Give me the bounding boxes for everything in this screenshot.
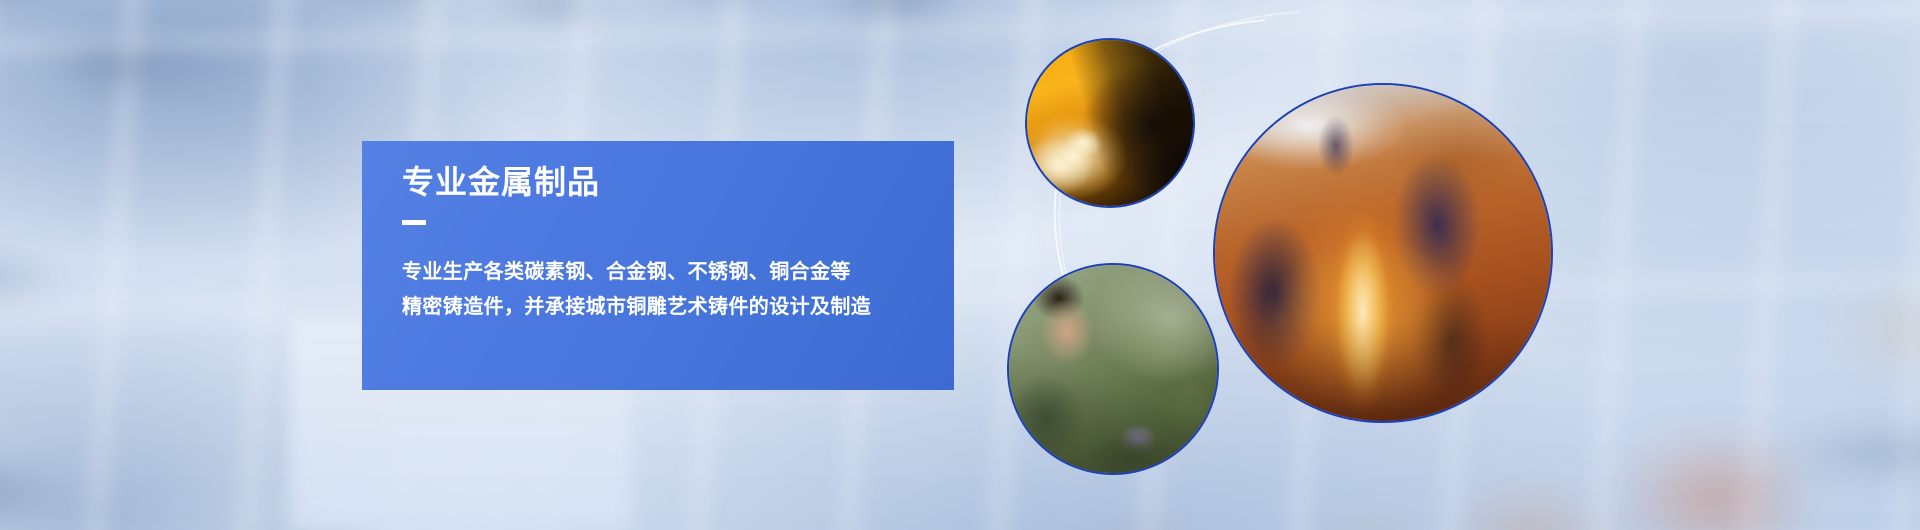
worker-photo-circle — [1007, 263, 1219, 475]
hero-banner: 专业金属制品 专业生产各类碳素钢、合金钢、不锈钢、铜合金等 精密铸造件，并承接城… — [0, 0, 1920, 530]
panel-description-line-2: 精密铸造件，并承接城市铜雕艺术铸件的设计及制造 — [402, 290, 932, 325]
worker-photo — [1009, 265, 1217, 473]
panel-title: 专业金属制品 — [402, 163, 600, 201]
panel-description: 专业生产各类碳素钢、合金钢、不锈钢、铜合金等 精密铸造件，并承接城市铜雕艺术铸件… — [402, 255, 932, 325]
foundry-photo — [1215, 85, 1551, 421]
title-underline-rule — [402, 220, 426, 225]
welding-photo — [1027, 40, 1193, 206]
foundry-photo-circle — [1213, 83, 1553, 423]
welding-photo-circle — [1025, 38, 1195, 208]
panel-description-line-1: 专业生产各类碳素钢、合金钢、不锈钢、铜合金等 — [402, 255, 932, 290]
headline-panel: 专业金属制品 专业生产各类碳素钢、合金钢、不锈钢、铜合金等 精密铸造件，并承接城… — [362, 141, 954, 390]
background-image — [0, 0, 1920, 530]
background-blue-tint — [0, 0, 1920, 530]
